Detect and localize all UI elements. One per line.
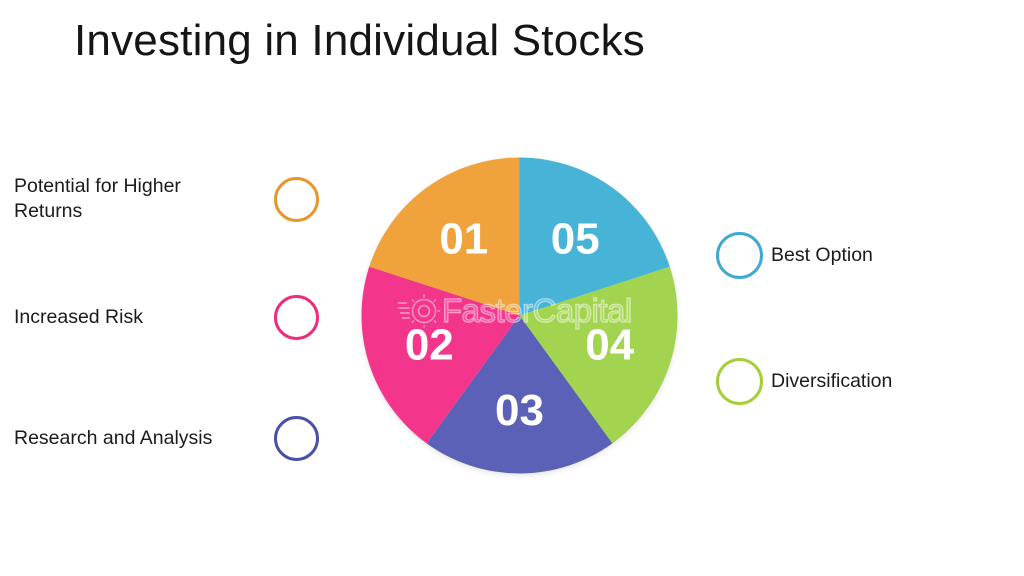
legend-item-increased-risk[interactable]: Increased Risk xyxy=(14,295,319,340)
page-title: Investing in Individual Stocks xyxy=(74,16,645,66)
slide-canvas: Investing in Individual Stocks Potential… xyxy=(0,0,1024,576)
circle-outline-icon xyxy=(716,358,763,405)
pie-chart-svg: 0504030201 xyxy=(361,157,678,474)
circle-outline-icon xyxy=(274,177,319,222)
pie-slice-label-04: 04 xyxy=(585,320,634,369)
legend-item-label: Diversification xyxy=(771,369,892,394)
pie-slice-label-03: 03 xyxy=(495,386,544,435)
pie-slice-label-05: 05 xyxy=(551,214,600,263)
circle-outline-icon xyxy=(274,416,319,461)
circle-outline-icon xyxy=(274,295,319,340)
legend-item-label: Research and Analysis xyxy=(14,426,212,451)
legend-item-label: Best Option xyxy=(771,243,873,268)
legend-item-best-option[interactable]: Best Option xyxy=(716,232,1011,279)
pie-slice-label-02: 02 xyxy=(405,320,454,369)
legend-item-diversification[interactable]: Diversification xyxy=(716,358,1011,405)
pie-slice-label-01: 01 xyxy=(439,214,488,263)
pie-chart: 0504030201 xyxy=(361,157,678,474)
legend-item-potential-for-higher-returns[interactable]: Potential for Higher Returns xyxy=(14,174,319,224)
circle-outline-icon xyxy=(716,232,763,279)
legend-item-research-and-analysis[interactable]: Research and Analysis xyxy=(14,416,319,461)
legend-item-label: Potential for Higher Returns xyxy=(14,174,249,224)
legend-item-label: Increased Risk xyxy=(14,305,143,330)
